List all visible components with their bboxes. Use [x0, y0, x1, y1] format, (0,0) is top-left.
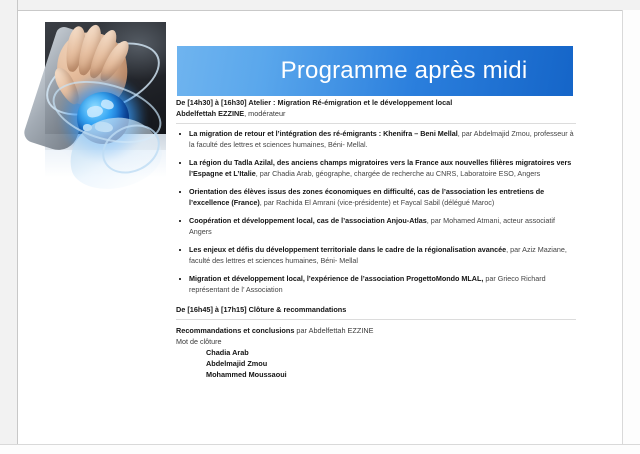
list-bullet-icon: [179, 162, 181, 164]
recommendations-subheading: Mot de clôture: [176, 336, 576, 347]
slide-body: De [14h30] à [16h30] Atelier : Migration…: [176, 98, 576, 380]
talk-details: , par Rachida El Amrani (vice-présidente…: [260, 198, 495, 207]
slide-title: Programme après midi: [223, 59, 528, 83]
closing-session-line: De [16h45] à [17h15] Clôture & recommand…: [176, 304, 576, 315]
talk-title: Migration et développement local, l’expé…: [189, 274, 483, 283]
session-time-topic: De [14h30] à [16h30] Atelier : Migration…: [176, 98, 576, 109]
document-page-frame: Programme après midi De [14h30] à [16h30…: [0, 0, 640, 454]
talk-item: Coopération et développement local, cas …: [176, 216, 576, 238]
list-bullet-icon: [179, 249, 181, 251]
closing-speaker: Mohammed Moussaoui: [206, 369, 576, 380]
talk-item: Orientation des élèves issus des zones é…: [176, 187, 576, 209]
talk-title: La migration de retour et l’intégration …: [189, 129, 458, 138]
session-moderator-name: Abdelfettah EZZINE: [176, 109, 244, 118]
separator-above-talks: [176, 123, 576, 124]
closing-speaker: Abdelmajid Zmou: [206, 358, 576, 369]
page-frame-right-edge: [622, 10, 640, 454]
globe-in-hand-illustration: [45, 22, 166, 196]
separator-above-recommendations: [176, 319, 576, 320]
talks-list: La migration de retour et l’intégration …: [176, 129, 576, 296]
list-bullet-icon: [179, 220, 181, 222]
talk-item: La région du Tadla Azilal, des anciens c…: [176, 158, 576, 180]
recommendations-heading-rest: par Abdelfettah EZZINE: [294, 326, 373, 335]
talk-item: La migration de retour et l’intégration …: [176, 129, 576, 151]
list-bullet-icon: [179, 278, 181, 280]
recommendations-heading: Recommandations et conclusions par Abdel…: [176, 325, 576, 336]
closing-speakers-list: Chadia Arab Abdelmajid Zmou Mohammed Mou…: [176, 347, 576, 381]
session-time-topic-text: De [14h30] à [16h30] Atelier : Migration…: [176, 98, 452, 107]
session-moderator: Abdelfettah EZZINE, modérateur: [176, 109, 576, 120]
slide-canvas: Programme après midi De [14h30] à [16h30…: [19, 11, 622, 444]
recommendations-block: Recommandations et conclusions par Abdel…: [176, 325, 576, 381]
list-bullet-icon: [179, 133, 181, 135]
page-frame-bottom-edge: [0, 444, 640, 454]
list-bullet-icon: [179, 191, 181, 193]
talk-item: Les enjeux et défis du développement ter…: [176, 245, 576, 267]
talk-title: Coopération et développement local, cas …: [189, 216, 427, 225]
talk-item: Migration et développement local, l’expé…: [176, 274, 576, 296]
closing-speaker: Chadia Arab: [206, 347, 576, 358]
recommendations-heading-bold: Recommandations et conclusions: [176, 326, 294, 335]
session-moderator-role: , modérateur: [244, 109, 285, 118]
slide-title-banner: Programme après midi: [177, 46, 573, 96]
page-frame-left-band: [0, 0, 18, 454]
talk-details: , par Chadia Arab, géographe, chargée de…: [256, 169, 540, 178]
page-frame-top-band: [0, 0, 640, 11]
talk-title: Les enjeux et défis du développement ter…: [189, 245, 506, 254]
